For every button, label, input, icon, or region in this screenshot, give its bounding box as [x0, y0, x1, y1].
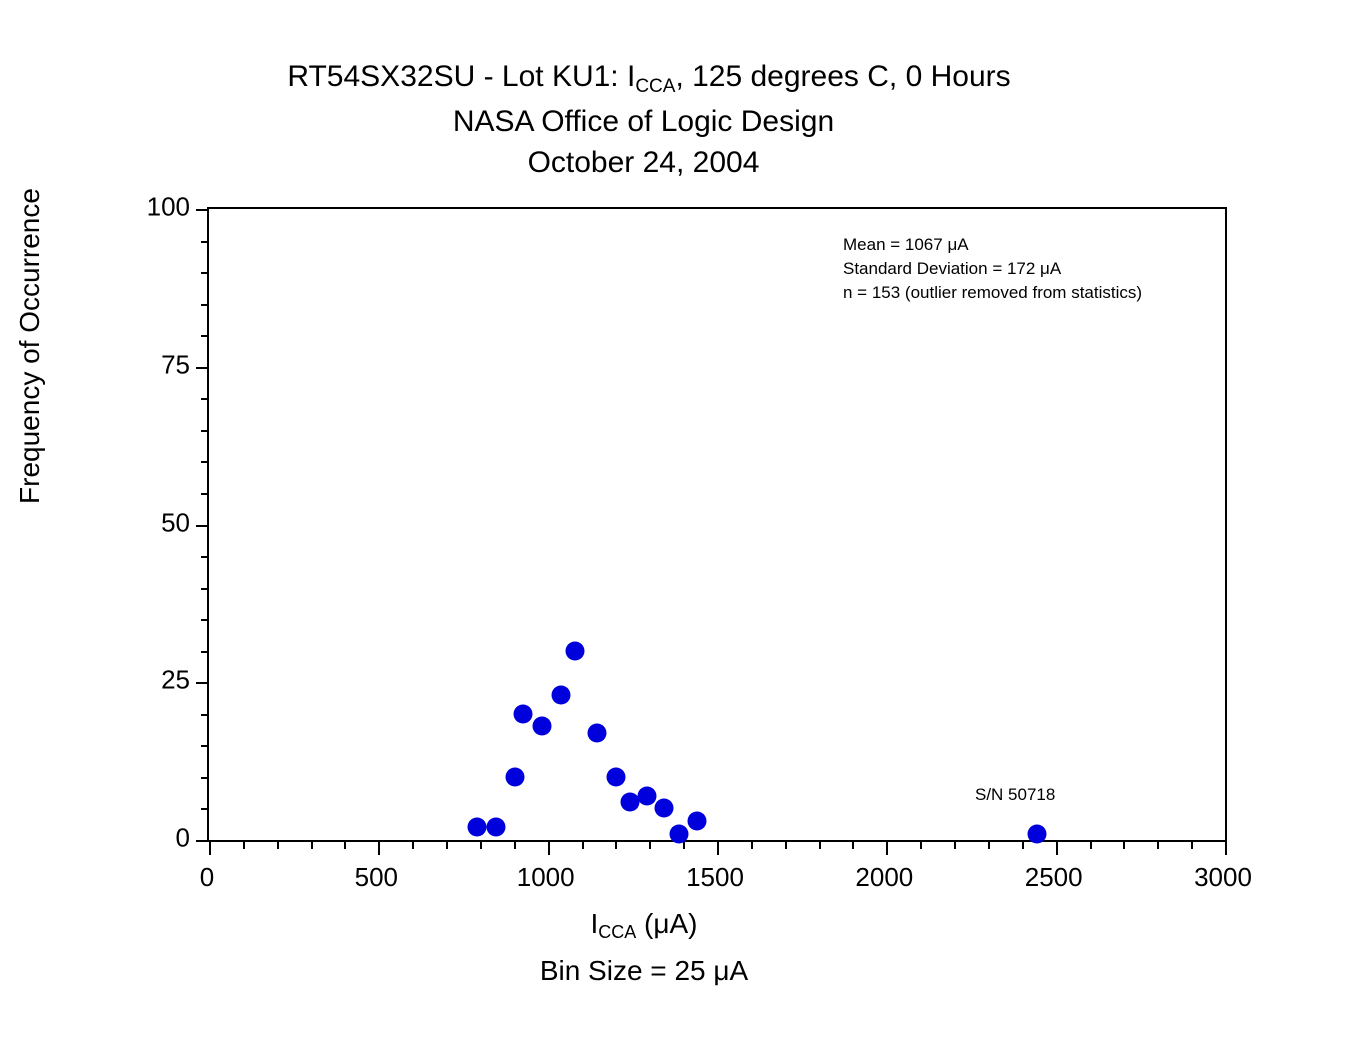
y-axis-minor-tick [201, 651, 209, 653]
statistics-annotation: Mean = 1067 μA Standard Deviation = 172 … [843, 233, 1142, 305]
x-axis-minor-tick [988, 840, 990, 849]
y-axis-minor-tick [201, 777, 209, 779]
x-axis-title-post: (μA) [636, 908, 697, 939]
y-axis-major-tick [196, 840, 209, 842]
x-axis-minor-tick [1123, 840, 1125, 849]
x-axis-minor-tick [1157, 840, 1159, 849]
x-axis-minor-tick [649, 840, 651, 849]
x-axis-major-tick [1225, 840, 1227, 855]
y-axis-tick-label: 50 [100, 507, 190, 538]
data-point-marker [513, 704, 532, 723]
x-axis-major-tick [548, 840, 550, 855]
y-axis-tick-label: 75 [100, 349, 190, 380]
y-axis-major-tick [196, 682, 209, 684]
y-axis-minor-tick [201, 430, 209, 432]
title-line-3: October 24, 2004 [0, 148, 1350, 178]
y-axis-tick-label: 0 [100, 823, 190, 854]
stat-std-dev: Standard Deviation = 172 μA [843, 257, 1142, 281]
x-axis-major-tick [886, 840, 888, 855]
x-axis-minor-tick [446, 840, 448, 849]
data-point-marker [552, 685, 571, 704]
data-point-marker [637, 786, 656, 805]
data-point-marker [467, 818, 486, 837]
x-axis-minor-tick [344, 840, 346, 849]
x-axis-minor-tick [920, 840, 922, 849]
y-axis-tick-label: 100 [100, 192, 190, 223]
data-point-marker [607, 767, 626, 786]
y-axis-minor-tick [201, 241, 209, 243]
x-axis-minor-tick [243, 840, 245, 849]
y-axis-title: Frequency of Occurrence [14, 26, 46, 666]
x-axis-minor-tick [514, 840, 516, 849]
x-axis-minor-tick [582, 840, 584, 849]
y-axis-minor-tick [201, 398, 209, 400]
x-axis-minor-tick [480, 840, 482, 849]
x-axis-minor-tick [785, 840, 787, 849]
y-axis-minor-tick [201, 272, 209, 274]
data-point-marker [532, 717, 551, 736]
x-axis-minor-tick [1090, 840, 1092, 849]
title-line-1-post: , 125 degrees C, 0 Hours [675, 60, 1010, 93]
y-axis-minor-tick [201, 304, 209, 306]
x-axis-tick-label: 2500 [994, 862, 1114, 893]
outlier-serial-number-label: S/N 50718 [975, 785, 1055, 805]
x-axis-minor-tick [615, 840, 617, 849]
chart-title-block: RT54SX32SU - Lot KU1: ICCA, 125 degrees … [0, 62, 1350, 189]
x-axis-tick-label: 1500 [655, 862, 775, 893]
data-point-marker [587, 723, 606, 742]
x-axis-minor-tick [954, 840, 956, 849]
data-point-marker [486, 818, 505, 837]
data-point-marker [1028, 824, 1047, 843]
x-axis-major-tick [717, 840, 719, 855]
y-axis-major-tick [196, 367, 209, 369]
x-axis-tick-labels: 050010001500200025003000 [207, 862, 1223, 902]
x-axis-minor-tick [277, 840, 279, 849]
stat-mean: Mean = 1067 μA [843, 233, 1142, 257]
x-axis-major-tick [1056, 840, 1058, 855]
x-axis-major-tick [209, 840, 211, 855]
y-axis-minor-tick [201, 714, 209, 716]
data-point-marker [565, 641, 584, 660]
x-axis-tick-label: 1000 [486, 862, 606, 893]
data-point-marker [654, 799, 673, 818]
y-axis-tick-label: 25 [100, 665, 190, 696]
x-axis-minor-tick [852, 840, 854, 849]
y-axis-minor-tick [201, 588, 209, 590]
x-axis-minor-tick [1191, 840, 1193, 849]
title-line-1: RT54SX32SU - Lot KU1: ICCA, 125 degrees … [0, 62, 1350, 96]
x-axis-minor-tick [1022, 840, 1024, 849]
bin-size-label: Bin Size = 25 μA [0, 955, 1350, 987]
y-axis-minor-tick [201, 493, 209, 495]
x-axis-tick-label: 500 [316, 862, 436, 893]
x-axis-title: ICCA (μA) [0, 908, 1350, 943]
x-axis-minor-tick [819, 840, 821, 849]
y-axis-minor-tick [201, 556, 209, 558]
x-axis-tick-label: 3000 [1163, 862, 1283, 893]
data-point-marker [687, 812, 706, 831]
x-axis-title-subscript: CCA [598, 922, 636, 942]
x-axis-tick-label: 2000 [824, 862, 944, 893]
x-axis-tick-label: 0 [147, 862, 267, 893]
x-axis-minor-tick [311, 840, 313, 849]
y-axis-minor-tick [201, 619, 209, 621]
x-axis-minor-tick [751, 840, 753, 849]
y-axis-minor-tick [201, 335, 209, 337]
title-line-1-pre: RT54SX32SU - Lot KU1: I [287, 60, 635, 93]
y-axis-major-tick [196, 525, 209, 527]
bin-size-text: Bin Size = 25 μA [540, 955, 748, 986]
data-point-marker [505, 767, 524, 786]
title-line-1-subscript: CCA [635, 76, 675, 97]
title-line-2: NASA Office of Logic Design [0, 107, 1350, 137]
x-axis-minor-tick [412, 840, 414, 849]
y-axis-minor-tick [201, 461, 209, 463]
stat-sample-count: n = 153 (outlier removed from statistics… [843, 281, 1142, 305]
y-axis-tick-labels: 0255075100 [85, 207, 190, 838]
y-axis-major-tick [196, 209, 209, 211]
y-axis-minor-tick [201, 745, 209, 747]
y-axis-minor-tick [201, 808, 209, 810]
x-axis-major-tick [378, 840, 380, 855]
data-point-marker [669, 824, 688, 843]
